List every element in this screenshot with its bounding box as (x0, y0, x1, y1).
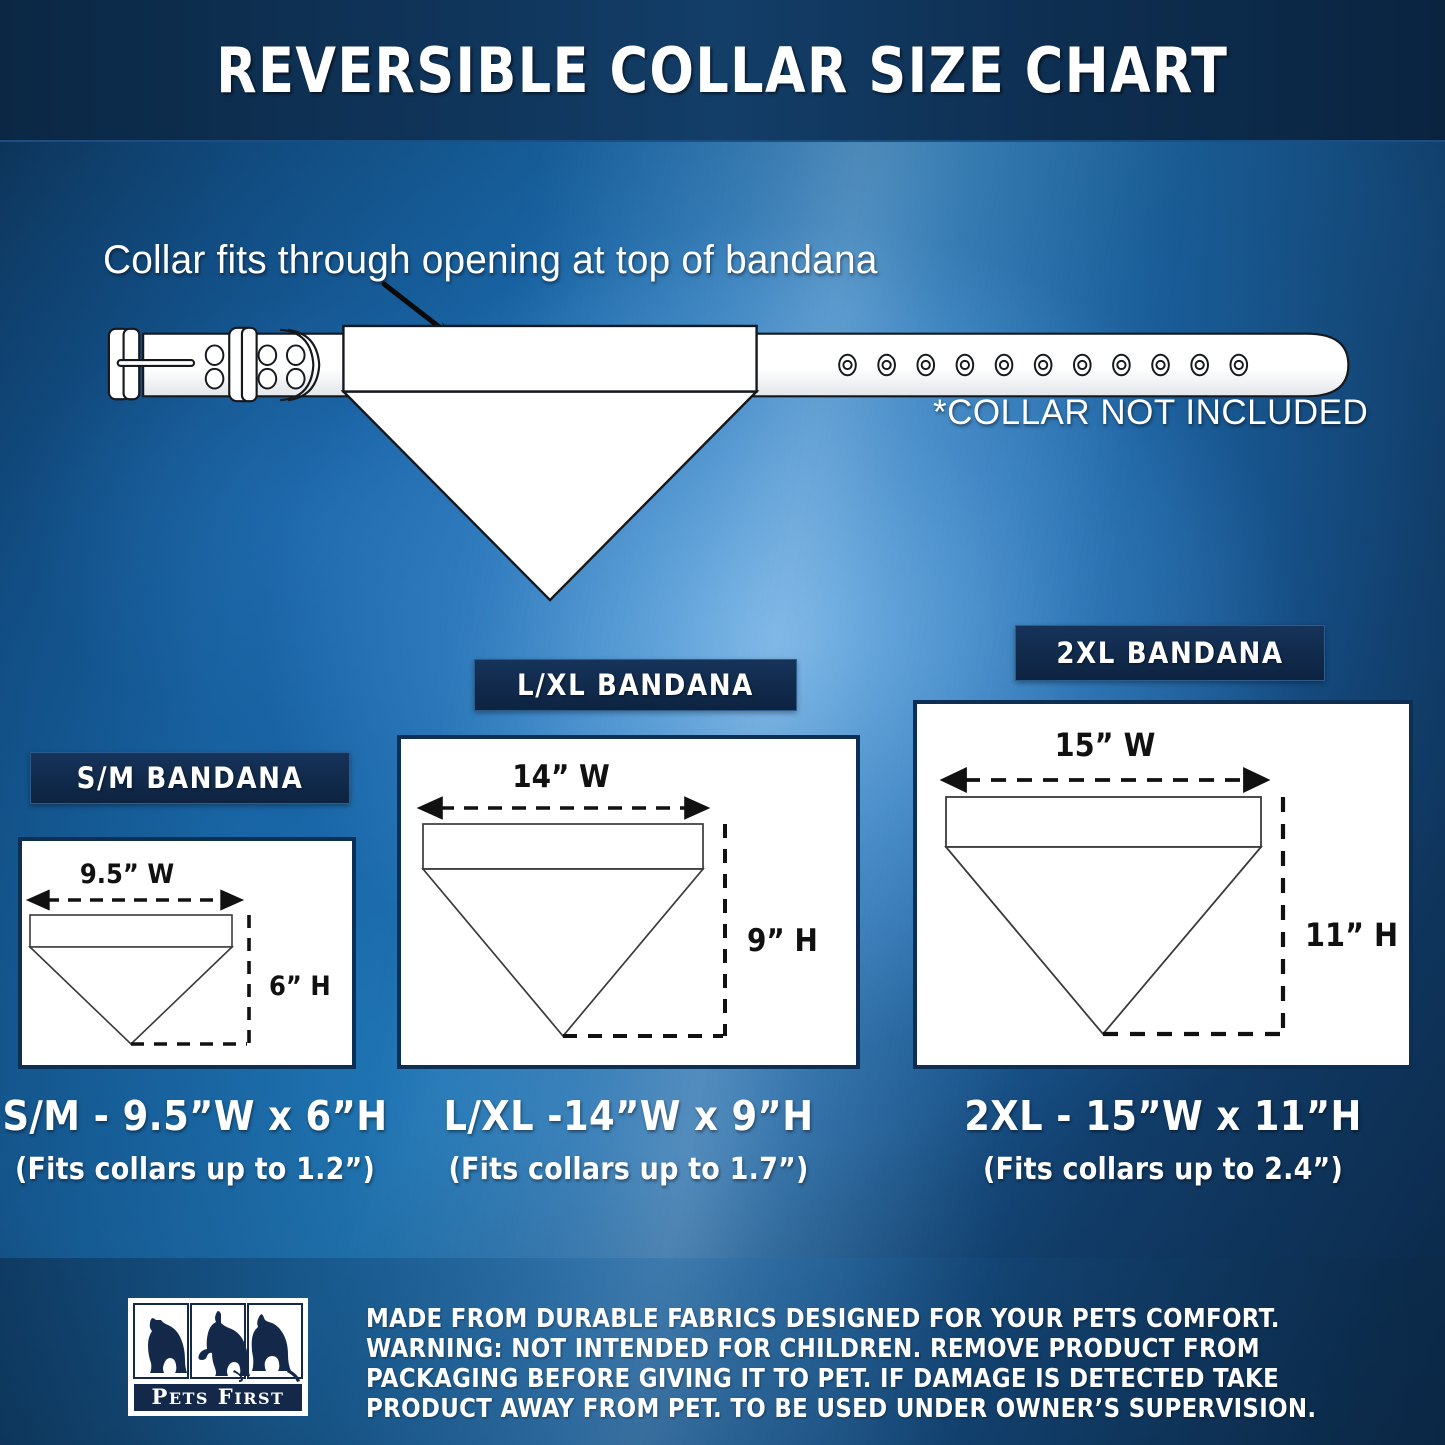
sleeve-rect-sm (30, 915, 232, 947)
size-badge-lxl: L/XL BANDANA (474, 659, 797, 711)
caption-2xl-sub: (Fits collars up to 2.4”) (913, 1152, 1413, 1187)
collar-annotation-text: Collar fits through opening at top of ba… (103, 238, 877, 283)
bandana-diagram-2xl: 15” W 11” H (917, 704, 1409, 1065)
triangle-2xl (946, 847, 1261, 1034)
width-label-lxl: 14” W (512, 759, 610, 795)
bandana-diagram-sm: 9.5” W 6” H (22, 841, 352, 1065)
disclaimer-line-1: MADE FROM DURABLE FABRICS DESIGNED FOR Y… (366, 1304, 1356, 1334)
collar-not-included-note: *COLLAR NOT INCLUDED (933, 393, 1368, 433)
title-bar: REVERSIBLE COLLAR SIZE CHART (0, 0, 1445, 142)
size-badge-lxl-label: L/XL BANDANA (517, 668, 754, 702)
diagram-card-sm: 9.5” W 6” H (18, 837, 356, 1069)
disclaimer-line-4: PRODUCT AWAY FROM PET. TO BE USED UNDER … (366, 1394, 1356, 1424)
height-label-lxl: 9” H (747, 923, 818, 959)
caption-lxl: L/XL -14”W x 9”H (Fits collars up to 1.7… (397, 1092, 860, 1187)
bandana-diagram-lxl: 14” W 9” H (401, 739, 856, 1065)
width-label-sm: 9.5” W (80, 859, 174, 890)
size-chart-infographic: REVERSIBLE COLLAR SIZE CHART Collar fits… (0, 0, 1445, 1445)
page-title: REVERSIBLE COLLAR SIZE CHART (216, 34, 1228, 107)
size-badge-sm: S/M BANDANA (30, 752, 350, 804)
size-badge-sm-label: S/M BANDANA (77, 761, 304, 795)
diagram-card-2xl: 15” W 11” H (913, 700, 1413, 1069)
caption-lxl-main: L/XL -14”W x 9”H (397, 1092, 860, 1140)
triangle-lxl (423, 869, 703, 1036)
sleeve-rect-2xl (946, 797, 1261, 847)
triangle-sm (30, 947, 232, 1044)
sleeve-rect-lxl (423, 824, 703, 869)
caption-2xl-main: 2XL - 15”W x 11”H (913, 1092, 1413, 1140)
caption-sm-main: S/M - 9.5”W x 6”H (0, 1092, 390, 1140)
pets-first-logo-icon: PETS FIRST (128, 1298, 308, 1416)
width-label-2xl: 15” W (1055, 726, 1156, 764)
size-badge-2xl-label: 2XL BANDANA (1056, 636, 1283, 670)
caption-sm-sub: (Fits collars up to 1.2”) (0, 1152, 390, 1187)
caption-lxl-sub: (Fits collars up to 1.7”) (397, 1152, 860, 1187)
disclaimer-line-2: WARNING: NOT INTENDED FOR CHILDREN. REMO… (366, 1334, 1356, 1364)
bandana-icon (330, 320, 770, 610)
diagram-card-lxl: 14” W 9” H (397, 735, 860, 1069)
disclaimer-line-3: PACKAGING BEFORE GIVING IT TO PET. IF DA… (366, 1364, 1356, 1394)
footer-disclaimer: MADE FROM DURABLE FABRICS DESIGNED FOR Y… (366, 1304, 1356, 1424)
size-badge-2xl: 2XL BANDANA (1015, 625, 1325, 681)
height-label-2xl: 11” H (1305, 916, 1398, 954)
caption-sm: S/M - 9.5”W x 6”H (Fits collars up to 1.… (0, 1092, 390, 1187)
caption-2xl: 2XL - 15”W x 11”H (Fits collars up to 2.… (913, 1092, 1413, 1187)
height-label-sm: 6” H (269, 971, 331, 1002)
